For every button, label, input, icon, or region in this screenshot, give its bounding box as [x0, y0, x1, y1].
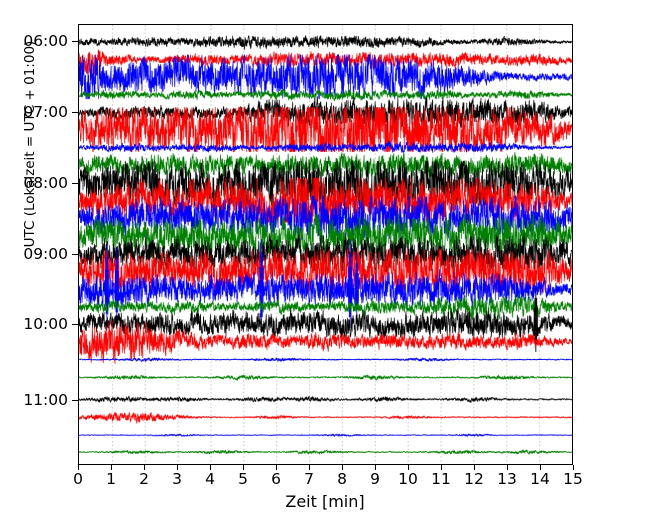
x-axis-label: Zeit [min] — [0, 492, 650, 511]
x-tick-label-8: 8 — [337, 470, 347, 488]
y-tick-mark-1000 — [72, 324, 79, 325]
x-tick-label-4: 4 — [205, 470, 215, 488]
x-tick-label-5: 5 — [238, 470, 248, 488]
x-tick-label-1: 1 — [106, 470, 116, 488]
x-tick-label-11: 11 — [431, 470, 451, 488]
x-tick-mark-6 — [276, 465, 277, 470]
x-tick-label-3: 3 — [172, 470, 182, 488]
x-tick-mark-10 — [408, 465, 409, 470]
y-tick-mark-0800 — [72, 183, 79, 184]
x-tick-mark-14 — [540, 465, 541, 470]
x-tick-mark-11 — [441, 465, 442, 470]
x-tick-label-12: 12 — [464, 470, 484, 488]
x-tick-mark-4 — [210, 465, 211, 470]
y-tick-mark-0900 — [72, 254, 79, 255]
y-tick-mark-1100 — [72, 400, 79, 401]
y-tick-mark-0600 — [72, 41, 79, 42]
y-axis-label: UTC (Lokalzeit = UTC + 01:00) — [22, 41, 38, 248]
x-tick-mark-3 — [177, 465, 178, 470]
x-tick-mark-1 — [111, 465, 112, 470]
x-tick-mark-0 — [78, 465, 79, 470]
plot-area — [78, 24, 573, 465]
x-tick-label-14: 14 — [530, 470, 550, 488]
x-tick-mark-9 — [375, 465, 376, 470]
x-tick-mark-15 — [573, 465, 574, 470]
y-tick-label-1100: 11:00 — [23, 391, 68, 409]
x-tick-mark-7 — [309, 465, 310, 470]
x-tick-label-2: 2 — [139, 470, 149, 488]
x-tick-label-13: 13 — [497, 470, 517, 488]
y-axis-label-wrapper: UTC (Lokalzeit = UTC + 01:00) — [19, 4, 39, 284]
x-tick-mark-13 — [507, 465, 508, 470]
x-tick-label-0: 0 — [73, 470, 83, 488]
y-tick-mark-0700 — [72, 112, 79, 113]
seismogram-traces-canvas — [79, 25, 572, 464]
x-tick-label-6: 6 — [271, 470, 281, 488]
x-tick-label-10: 10 — [398, 470, 418, 488]
x-tick-label-7: 7 — [304, 470, 314, 488]
y-tick-label-1000: 10:00 — [23, 315, 68, 333]
x-tick-mark-12 — [474, 465, 475, 470]
x-tick-label-15: 15 — [563, 470, 583, 488]
x-tick-mark-5 — [243, 465, 244, 470]
x-tick-mark-2 — [144, 465, 145, 470]
seismogram-figure: 06:0007:0008:0009:0010:0011:00 012345678… — [0, 0, 650, 520]
x-tick-mark-8 — [342, 465, 343, 470]
x-tick-label-9: 9 — [370, 470, 380, 488]
